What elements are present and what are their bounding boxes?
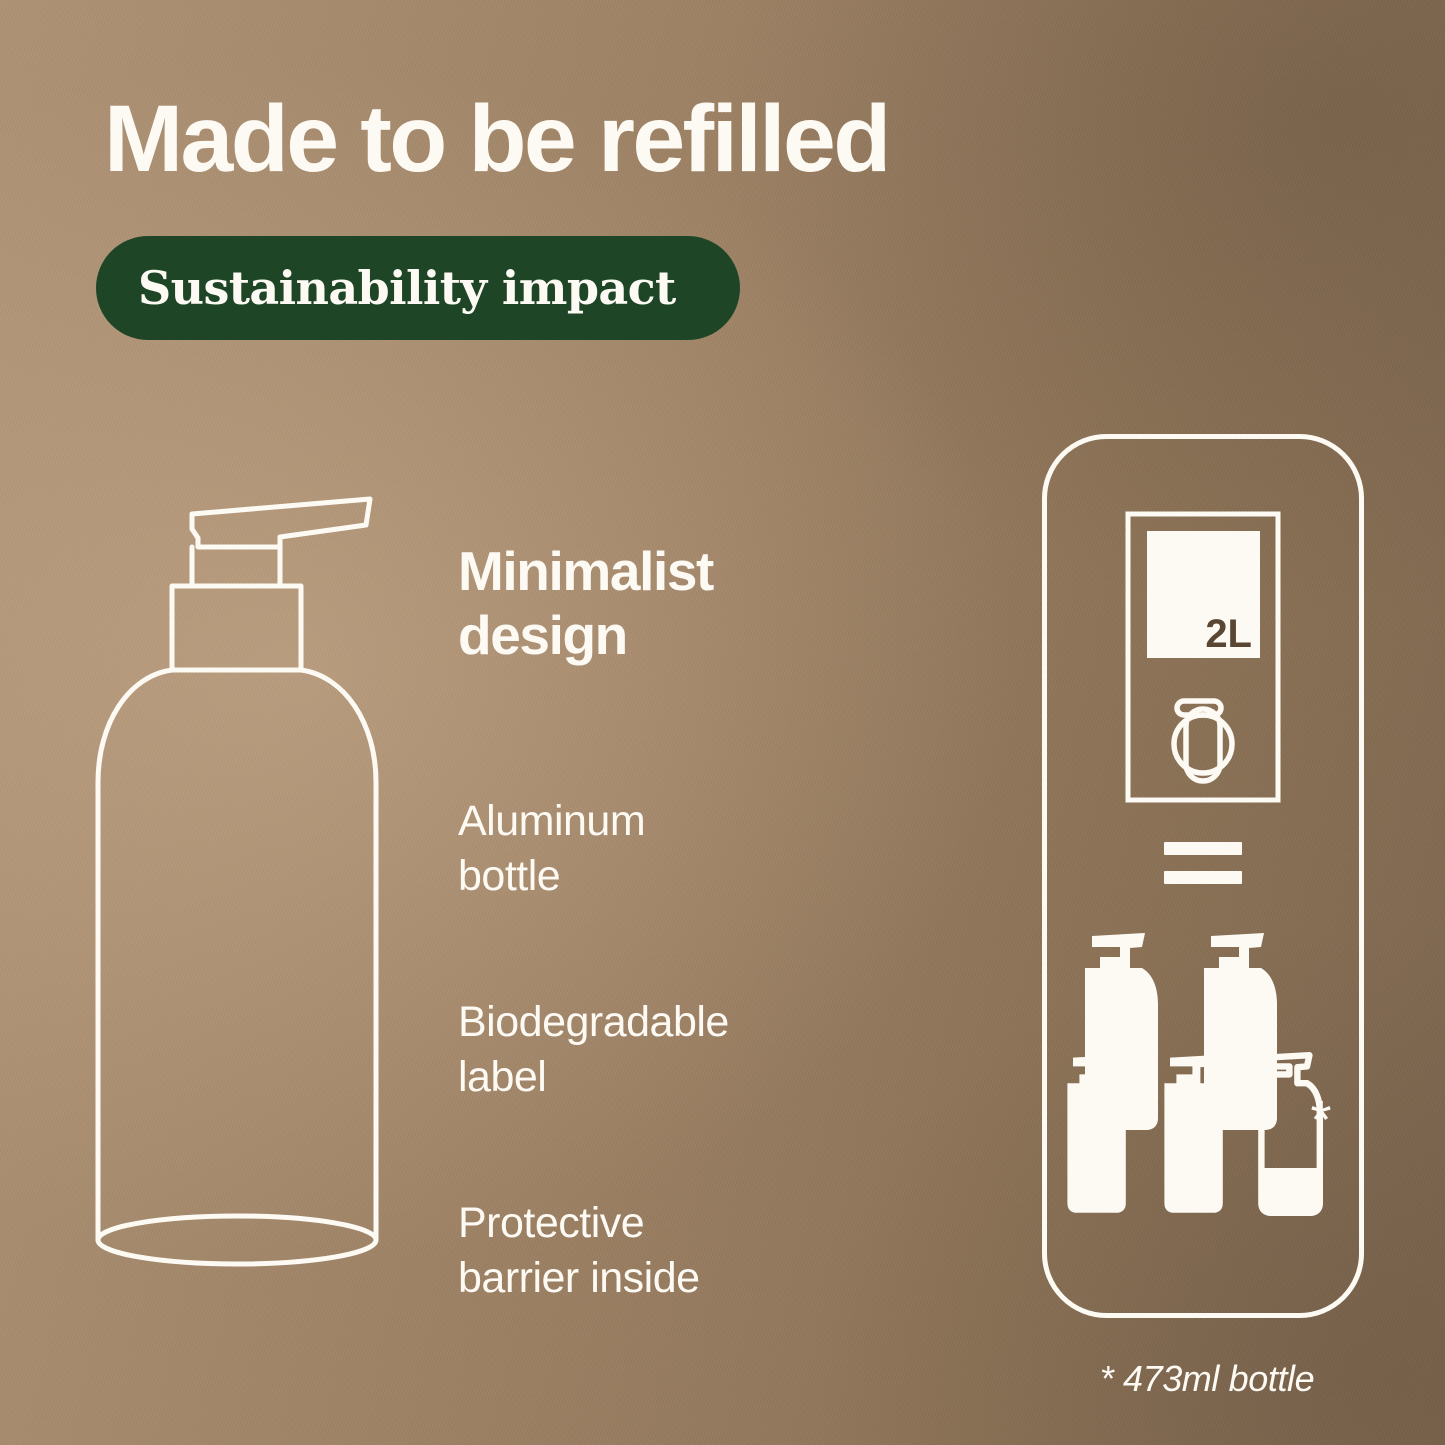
status-badge: Sustainability impact (96, 236, 740, 340)
feature-item-line1: Biodegradable (458, 995, 858, 1050)
feature-item-line2: bottle (458, 849, 858, 904)
feature-heading: Minimalist design (458, 540, 858, 668)
feature-item-line2: barrier inside (458, 1251, 858, 1306)
pouch-spout-icon (1174, 701, 1232, 781)
feature-list: Minimalist design Aluminum bottle Biodeg… (458, 540, 858, 1306)
feature-item-biodegradable-label: Biodegradable label (458, 995, 858, 1105)
pump-bottle-outline-icon (80, 470, 440, 1300)
feature-heading-line2: design (458, 604, 858, 668)
product-infographic: Made to be refilled Sustainability impac… (0, 0, 1445, 1445)
feature-item-protective-barrier: Protective barrier inside (458, 1196, 858, 1306)
refill-footnote: * 473ml bottle (1042, 1358, 1372, 1400)
refill-equivalence-panel: 2L (1042, 434, 1364, 1318)
feature-heading-line1: Minimalist (458, 540, 858, 604)
asterisk-marker: * (1310, 1090, 1331, 1150)
status-badge-label: Sustainability impact (96, 261, 676, 315)
equals-icon (1164, 842, 1242, 884)
page-title: Made to be refilled (104, 92, 1204, 187)
feature-item-line1: Protective (458, 1196, 858, 1251)
feature-item-line1: Aluminum (458, 794, 858, 849)
pouch-volume-label: 2L (1205, 612, 1252, 656)
feature-item-aluminum-bottle: Aluminum bottle (458, 794, 858, 904)
feature-item-line2: label (458, 1050, 858, 1105)
